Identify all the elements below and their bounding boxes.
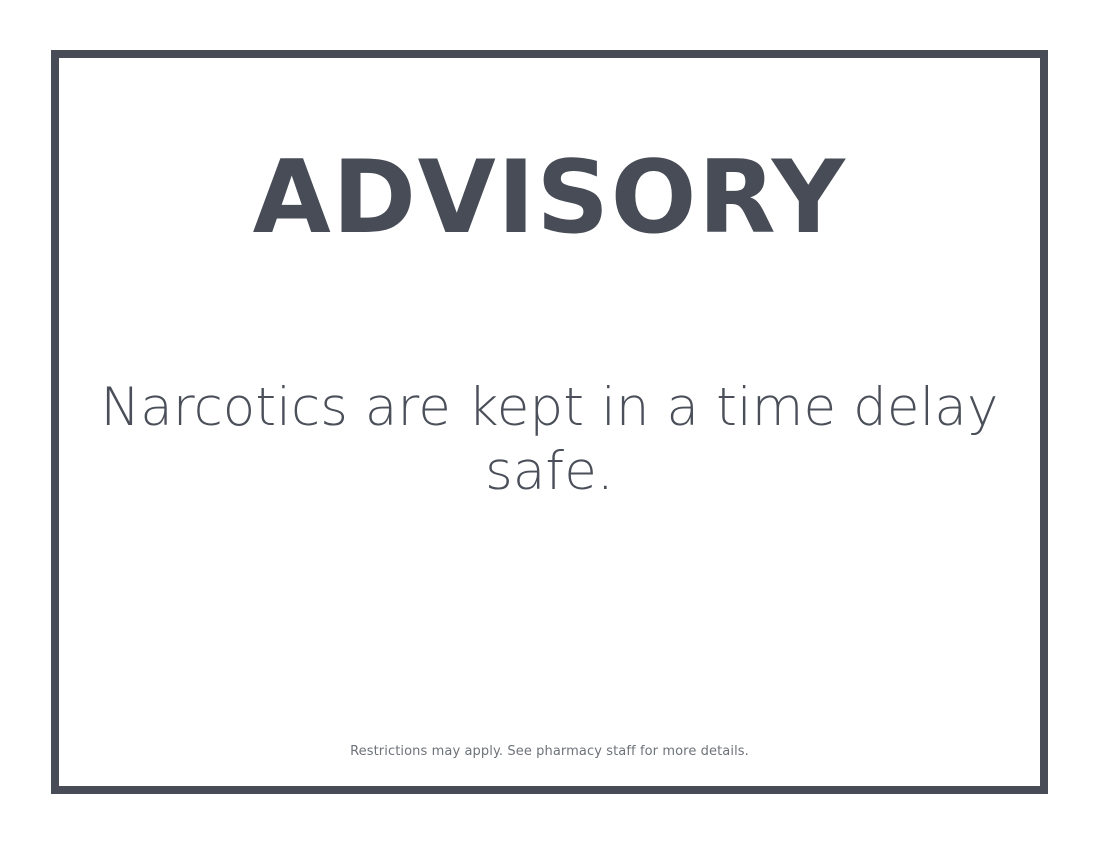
sign-body-text: Narcotics are kept in a time delay safe. — [59, 376, 1040, 503]
sign-content: ADVISORY Narcotics are kept in a time de… — [59, 58, 1040, 786]
sign-footer-note: Restrictions may apply. See pharmacy sta… — [59, 744, 1040, 759]
sign-title: ADVISORY — [59, 144, 1040, 250]
sign-frame-border: ADVISORY Narcotics are kept in a time de… — [51, 50, 1048, 794]
sign-page: ADVISORY Narcotics are kept in a time de… — [0, 0, 1100, 850]
